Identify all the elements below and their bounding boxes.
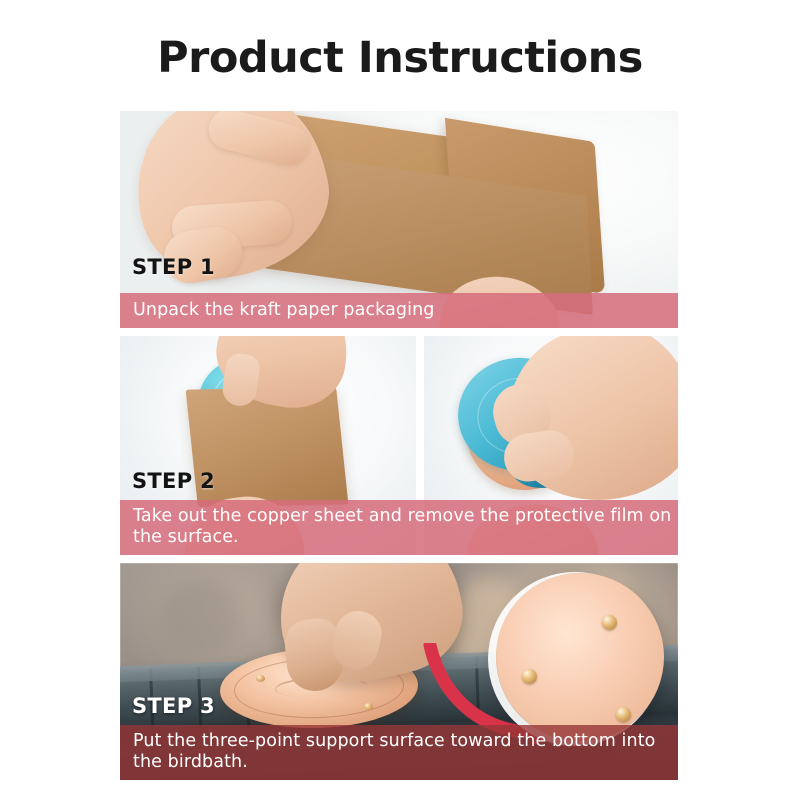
- support-bump-3: [616, 707, 631, 722]
- support-bump-2: [522, 669, 537, 684]
- support-bump: [256, 675, 265, 682]
- support-bump-1: [602, 615, 617, 630]
- step-1-label: STEP 1: [132, 255, 215, 279]
- bokeh-blob: [160, 581, 244, 655]
- step-2-caption: Take out the copper sheet and remove the…: [120, 500, 678, 555]
- step-2-label: STEP 2: [132, 469, 215, 493]
- instruction-sheet: Product Instructions STEP 1 Unpack the k…: [0, 0, 800, 800]
- page-title: Product Instructions: [0, 33, 800, 83]
- step-3-caption: Put the three-point support surface towa…: [120, 725, 678, 780]
- disc-underside-inset: [496, 573, 664, 741]
- step-3-label: STEP 3: [132, 694, 215, 718]
- step-panel-3: STEP 3 Put the three-point support surfa…: [120, 563, 678, 780]
- step-panel-1: STEP 1 Unpack the kraft paper packaging: [120, 111, 678, 328]
- support-bump: [364, 703, 373, 710]
- step-panel-2: STEP 2 Take out the copper sheet and rem…: [120, 336, 678, 555]
- step-1-caption: Unpack the kraft paper packaging: [120, 293, 678, 328]
